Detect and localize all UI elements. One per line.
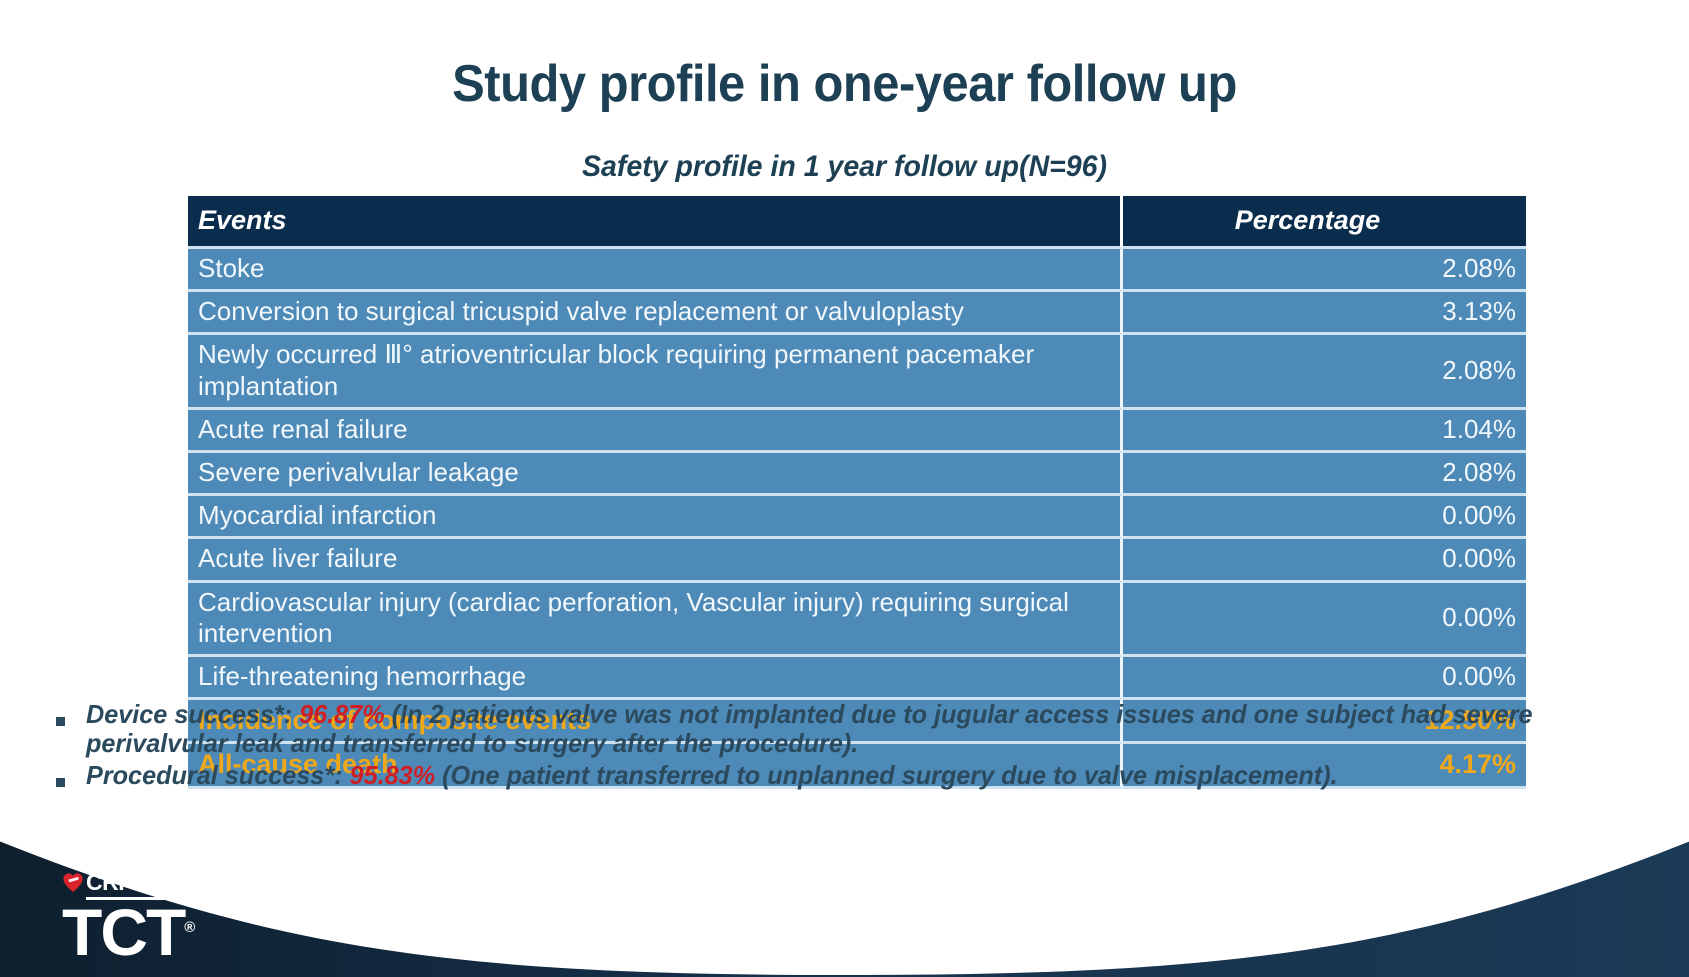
table-row: Myocardial infarction0.00% [188, 496, 1526, 539]
cell-percentage: 0.00% [1123, 539, 1526, 582]
cell-event: Life-threatening hemorrhage [188, 657, 1123, 700]
square-bullet-icon [56, 761, 86, 792]
square-bullet-icon [56, 700, 86, 731]
footnote-text: Device success*: 96.87% (In 2 patients v… [86, 700, 1619, 758]
cell-percentage: 0.00% [1123, 583, 1526, 657]
table-row: Life-threatening hemorrhage0.00% [188, 657, 1526, 700]
column-header-percentage: Percentage [1123, 196, 1526, 249]
column-header-events: Events [188, 196, 1123, 249]
cell-percentage: 1.04% [1123, 410, 1526, 453]
tct-wordmark: TCT® [38, 901, 248, 964]
cell-percentage: 3.13% [1123, 292, 1526, 335]
tct-registered-mark: ® [184, 919, 195, 936]
footnote-detail: (One patient transferred to unplanned su… [435, 760, 1338, 790]
slide-root: Study profile in one-year follow up Safe… [0, 0, 1689, 977]
footer-band: CRF® TCT® [0, 797, 1689, 977]
table-row: Cardiovascular injury (cardiac perforati… [188, 583, 1526, 657]
footnote-text: Procedural success*: 95.83% (One patient… [86, 761, 1619, 790]
footnote-item: Procedural success*: 95.83% (One patient… [56, 761, 1666, 792]
heart-icon [62, 872, 84, 894]
table-row: Acute renal failure1.04% [188, 410, 1526, 453]
cell-event: Newly occurred Ⅲ° atrioventricular block… [188, 335, 1123, 409]
table-row: Newly occurred Ⅲ° atrioventricular block… [188, 335, 1526, 409]
crf-registered-mark: ® [132, 874, 139, 885]
tct-text: TCT [62, 895, 184, 969]
table-row: Severe perivalvular leakage2.08% [188, 453, 1526, 496]
footnote-label: Procedural success*: [86, 760, 350, 790]
cell-percentage: 2.08% [1123, 249, 1526, 292]
page-subtitle: Safety profile in 1 year follow up(N=96) [42, 150, 1647, 184]
footer-curve-shape [0, 797, 1689, 977]
cell-event: Severe perivalvular leakage [188, 453, 1123, 496]
table-row: Stoke2.08% [188, 249, 1526, 292]
crf-logo-lockup: CRF® [38, 871, 248, 894]
page-title: Study profile in one-year follow up [51, 54, 1639, 114]
cell-percentage: 0.00% [1123, 496, 1526, 539]
table-row: Conversion to surgical tricuspid valve r… [188, 292, 1526, 335]
cell-event: Cardiovascular injury (cardiac perforati… [188, 583, 1123, 657]
cell-event: Conversion to surgical tricuspid valve r… [188, 292, 1123, 335]
cell-percentage: 2.08% [1123, 335, 1526, 409]
cell-percentage: 2.08% [1123, 453, 1526, 496]
cell-event: Acute renal failure [188, 410, 1123, 453]
cell-percentage: 0.00% [1123, 657, 1526, 700]
cell-event: Myocardial infarction [188, 496, 1123, 539]
footnote-item: Device success*: 96.87% (In 2 patients v… [56, 700, 1666, 758]
cell-event: Acute liver failure [188, 539, 1123, 582]
tct-crf-logo: CRF® TCT® [38, 871, 248, 964]
cell-event: Stoke [188, 249, 1123, 292]
table-header: Events Percentage [188, 196, 1526, 249]
footnote-value: 95.83% [350, 760, 436, 790]
crf-text: CRF [86, 869, 132, 895]
footnote-value: 96.87% [299, 699, 385, 729]
footnote-label: Device success*: [86, 699, 299, 729]
crf-wordmark: CRF® [86, 871, 139, 894]
table-row: Acute liver failure0.00% [188, 539, 1526, 582]
table-header-row: Events Percentage [188, 196, 1526, 249]
